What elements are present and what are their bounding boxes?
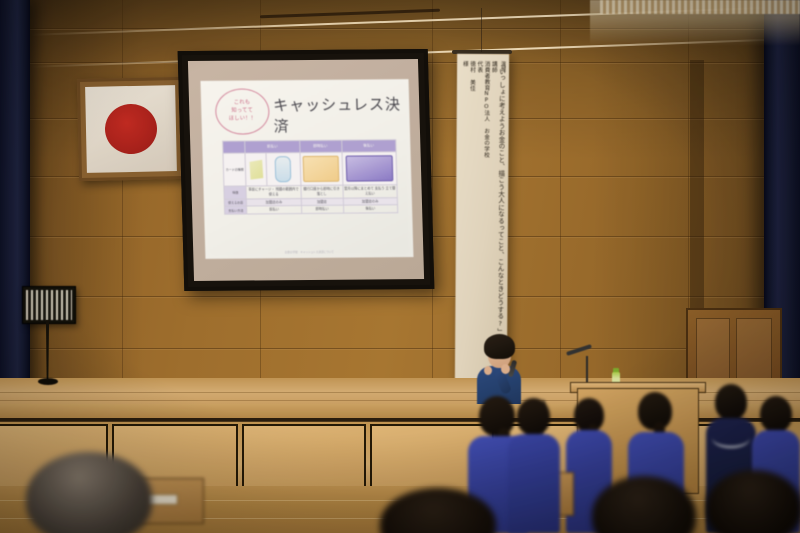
- pa-speaker-tower: [22, 286, 76, 324]
- door-panel: [736, 318, 772, 382]
- table-cell: 翌月以降にまとめて 支払う 立て替え払い: [342, 185, 397, 198]
- audience-foreground-person: [706, 470, 800, 533]
- table-cell: 銀行口座から即時に引き落とし: [300, 185, 342, 198]
- foreground-head: [26, 452, 152, 533]
- lecturer-hair: [484, 334, 515, 359]
- foreground-head: [380, 488, 496, 533]
- wall-seam: [0, 348, 800, 349]
- banner-cord: [481, 8, 482, 52]
- wall-shadow-column: [690, 60, 704, 310]
- circle-note-line-3: ほしい！！: [229, 115, 257, 123]
- table-cell-cash: [245, 153, 266, 186]
- projection-screen: これも 知ってて ほしい！！ キャッシュレス決済 前払い 即時払い 後払い: [178, 49, 435, 291]
- wall-seam-vertical: [122, 0, 123, 378]
- sailor-collar: [712, 428, 750, 448]
- table-cell: 事前にチャージ・ 残額の範囲内で使える: [246, 186, 300, 199]
- table-row: カードの種類: [223, 152, 397, 186]
- student-jacket: [508, 434, 560, 533]
- pa-speaker-base: [38, 378, 58, 385]
- table-cell: 後払い: [343, 205, 398, 213]
- apron-panel: [242, 424, 366, 490]
- wall-seam: [0, 296, 800, 297]
- door-panel: [696, 318, 730, 382]
- table-header-cell: 即時払い: [299, 140, 341, 152]
- student-head: [760, 396, 792, 432]
- phone-payment-icon: [345, 155, 393, 181]
- row-label: 特徴: [224, 186, 247, 199]
- student-head: [517, 398, 550, 435]
- wall-seam-vertical: [560, 0, 561, 378]
- lecturer-hand-left: [484, 366, 492, 375]
- foreground-head: [706, 470, 800, 533]
- audience-foreground-person: [26, 452, 152, 533]
- table-row: 支払い方法 前払い 即時払い 後払い: [224, 205, 397, 214]
- row-label: 支払い方法: [224, 206, 247, 214]
- prepaid-card-icon: [275, 156, 292, 182]
- table-cell-debit: [300, 152, 343, 185]
- wall-seam-vertical: [432, 0, 433, 378]
- table-cell: 即時払い: [301, 205, 343, 213]
- banner-topic: 「いっしょに考えようお金のこと、描こう大人になるってこと、こんなときどうする?」: [496, 61, 505, 373]
- audience-student: [508, 398, 560, 533]
- debit-card-icon: [302, 156, 339, 182]
- row-label: カードの種類: [223, 153, 246, 186]
- presentation-slide: これも 知ってて ほしい！！ キャッシュレス決済 前払い 即時払い 後払い: [200, 79, 413, 259]
- audience-foreground-person: [592, 476, 696, 533]
- table-header-cell: 後払い: [341, 140, 396, 152]
- pa-speaker-grill: [26, 290, 72, 320]
- table-header-cell: 前払い: [245, 141, 299, 153]
- banner-heading: 演題: [499, 61, 505, 72]
- curtain-fringe: [600, 0, 800, 14]
- screen-surface: これも 知ってて ほしい！！ キャッシュレス決済 前払い 即時払い 後払い: [188, 59, 424, 281]
- slide-circle-annotation: これも 知ってて ほしい！！: [215, 88, 270, 134]
- slide-footer: お金の学校 キャッシュレス決済について: [205, 249, 413, 255]
- table-cell: 前払い: [247, 206, 301, 214]
- audience-foreground-person: [380, 488, 496, 533]
- cash-icon: [248, 157, 264, 181]
- slide-title: キャッシュレス決済: [273, 93, 410, 136]
- table-header-cell: [223, 141, 246, 153]
- foreground-head: [592, 476, 696, 533]
- photo-scene: これも 知ってて ほしい！！ キャッシュレス決済 前払い 即時払い 後払い: [0, 0, 800, 533]
- row-label: 使えるお店: [224, 199, 247, 207]
- lecturer-hand-right: [501, 364, 510, 374]
- slide-comparison-table: 前払い 即時払い 後払い カードの種類: [222, 139, 398, 215]
- japanese-flag: [77, 77, 185, 181]
- circle-note-line-2: 知ってて: [231, 108, 253, 116]
- table-cell-prepaid: [266, 153, 301, 186]
- table-cell-phone: [342, 152, 397, 185]
- student-head: [715, 384, 747, 420]
- stage-curtain-left: [0, 0, 30, 420]
